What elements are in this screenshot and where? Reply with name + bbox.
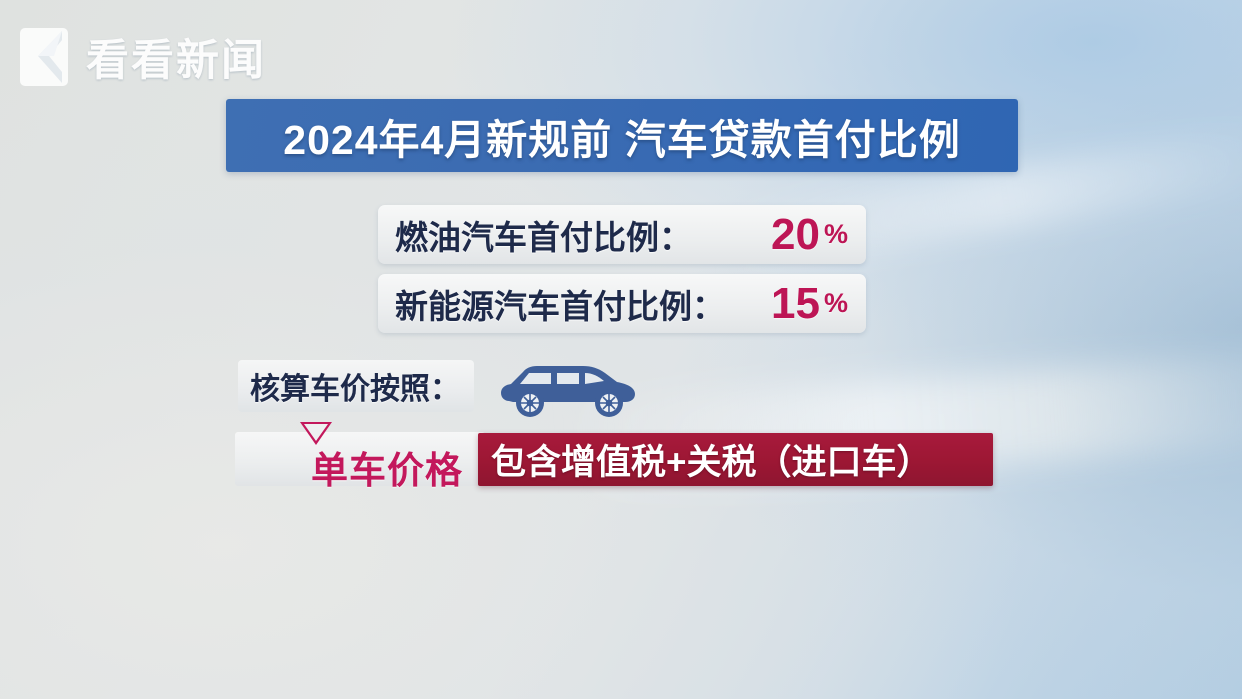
stat-unit: % bbox=[824, 288, 866, 319]
basis-label: 核算车价按照： bbox=[238, 364, 460, 408]
stat-label: 燃油汽车首付比例： bbox=[378, 211, 692, 259]
stat-value: 15 bbox=[771, 282, 824, 326]
broadcaster-name: 看看新闻 bbox=[86, 26, 266, 88]
stat-value: 20 bbox=[771, 213, 824, 257]
headline-text: 2024年4月新规前 汽车贷款首付比例 bbox=[283, 106, 960, 166]
callout-bar-text: 包含增值税+关税（进口车） bbox=[478, 434, 931, 485]
stat-label: 新能源汽车首付比例： bbox=[378, 280, 725, 328]
headline-bar: 2024年4月新规前 汽车贷款首付比例 bbox=[226, 99, 1018, 172]
stat-row: 新能源汽车首付比例： 15 % bbox=[378, 274, 866, 333]
k-logo-icon bbox=[18, 26, 70, 88]
callout-highlight-text: 单车价格 bbox=[311, 440, 463, 494]
broadcast-graphic-stage: 看看新闻 2024年4月新规前 汽车贷款首付比例 燃油汽车首付比例： 20 % … bbox=[0, 0, 1242, 699]
stat-unit: % bbox=[824, 219, 866, 250]
broadcaster-logo: 看看新闻 bbox=[18, 26, 266, 88]
basis-panel: 核算车价按照： bbox=[238, 360, 474, 412]
stat-row: 燃油汽车首付比例： 20 % bbox=[378, 205, 866, 264]
callout-bar: 包含增值税+关税（进口车） bbox=[478, 433, 993, 486]
car-side-icon bbox=[497, 363, 639, 419]
